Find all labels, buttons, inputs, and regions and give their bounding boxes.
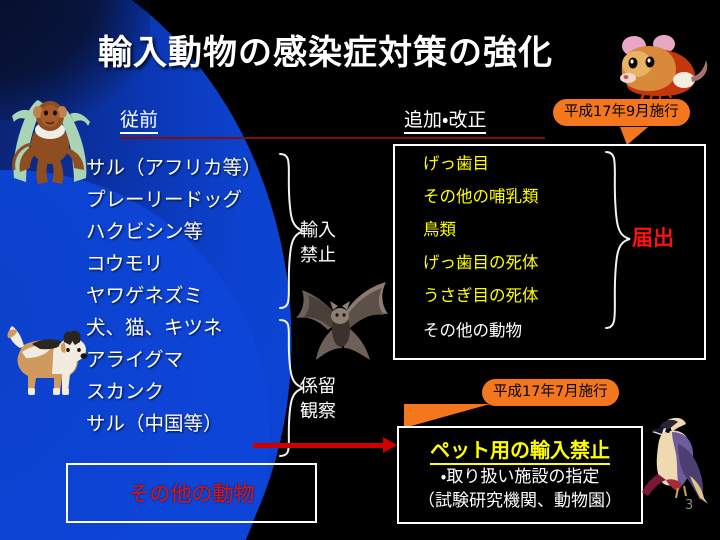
waxwing-bird-icon — [638, 414, 716, 506]
brace-label-notification: 届出 — [632, 222, 674, 252]
brace-notification — [602, 150, 634, 330]
pet-box-title: ペット用の輸入禁止 — [430, 434, 610, 465]
group-label-quarantine: 係留 観察 — [300, 374, 336, 424]
red-arrow-head — [383, 437, 397, 453]
callout-july: 平成17年7月施行 — [482, 379, 619, 406]
panel-item: その他の哺乳類 — [423, 187, 539, 207]
red-arrow-shaft — [253, 443, 387, 448]
monkey-icon — [2, 86, 98, 186]
panel-item: げっ歯目 — [423, 154, 489, 174]
panel-item: げっ歯目の死体 — [423, 253, 539, 273]
list-item: 犬、猫、キツネ — [86, 312, 301, 344]
group-label-quarantine-line2: 観察 — [300, 399, 336, 424]
column-header-after: 追加・改正 — [404, 105, 486, 132]
callout-july-tail — [404, 404, 490, 428]
slide-canvas: 輸入動物の感染症対策の強化 従前 追加・改正 平成17年9月施行 — [0, 0, 720, 540]
page-number: 3 — [685, 498, 693, 513]
pet-box-line1: ・取り扱い施設の指定 — [399, 465, 641, 489]
group-label-import-ban-line2: 禁止 — [300, 243, 336, 268]
group-label-quarantine-line1: 係留 — [300, 374, 336, 399]
other-animals-label: その他の動物 — [129, 478, 255, 508]
page-title: 輸入動物の感染症対策の強化 — [98, 25, 553, 74]
panel-item: うさぎ目の死体 — [423, 286, 539, 306]
panel-item: 鳥類 — [423, 220, 456, 240]
callout-september-tail — [620, 127, 648, 145]
group-label-import-ban-line1: 輸入 — [300, 218, 336, 243]
list-item: サル（アフリカ等） — [86, 152, 301, 184]
list-item: スカンク — [86, 376, 301, 408]
other-animals-box: その他の動物 — [66, 463, 317, 523]
list-item: アライグマ — [86, 344, 301, 376]
bat-icon — [288, 268, 398, 368]
group-label-import-ban: 輸入 禁止 — [300, 218, 336, 268]
header-divider — [120, 137, 545, 139]
callout-september: 平成17年9月施行 — [553, 99, 690, 126]
list-item: プレーリードッグ — [86, 184, 301, 216]
pet-import-ban-box: ペット用の輸入禁止 ・取り扱い施設の指定 （試験研究機関、動物園） — [397, 426, 643, 524]
list-item: ハクビシン等 — [86, 216, 301, 248]
list-item: コウモリ — [86, 248, 301, 280]
column-header-before: 従前 — [120, 105, 158, 132]
possum-icon — [592, 24, 714, 100]
before-list: サル（アフリカ等） プレーリードッグ ハクビシン等 コウモリ ヤワゲネズミ 犬、… — [86, 152, 301, 440]
list-item: サル（中国等） — [86, 408, 301, 440]
pet-box-line2: （試験研究機関、動物園） — [399, 489, 641, 513]
panel-item: その他の動物 — [423, 321, 522, 341]
list-item: ヤワゲネズミ — [86, 280, 301, 312]
after-panel: げっ歯目 その他の哺乳類 鳥類 げっ歯目の死体 うさぎ目の死体 その他の動物 — [393, 144, 706, 360]
dog-icon — [2, 312, 94, 400]
